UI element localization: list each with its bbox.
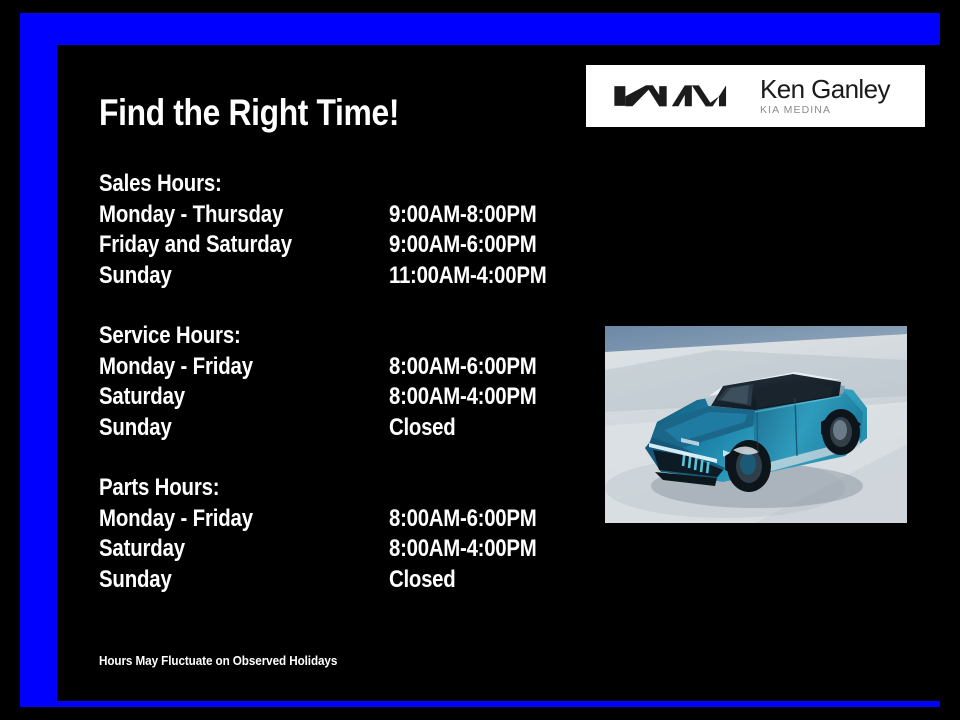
blue-border-frame: Find the Right Time! Sales Hours: Monday… (20, 13, 940, 707)
hours-row-time: 8:00AM-6:00PM (389, 504, 536, 535)
hours-row: Saturday 8:00AM-4:00PM (99, 382, 579, 413)
hours-row-day: Sunday (99, 413, 172, 444)
hours-row: Friday and Saturday 9:00AM-6:00PM (99, 230, 579, 261)
hours-row-time: 8:00AM-4:00PM (389, 382, 536, 413)
footer-disclaimer: Hours May Fluctuate on Observed Holidays (99, 653, 337, 668)
hours-row: Saturday 8:00AM-4:00PM (99, 534, 579, 565)
vehicle-photo (605, 326, 907, 523)
hours-row: Sunday Closed (99, 413, 579, 444)
hours-heading: Service Hours: (99, 321, 507, 352)
hours-block-sales: Sales Hours: Monday - Thursday 9:00AM-8:… (99, 169, 579, 291)
hours-row: Sunday Closed (99, 565, 579, 596)
dealer-name: Ken Ganley (760, 76, 890, 103)
hours-row-day: Monday - Thursday (99, 200, 283, 231)
hours-block-parts: Parts Hours: Monday - Friday 8:00AM-6:00… (99, 473, 579, 595)
hours-row: Monday - Friday 8:00AM-6:00PM (99, 504, 579, 535)
hours-row-time: 8:00AM-4:00PM (389, 534, 536, 565)
hours-row-day: Monday - Friday (99, 504, 253, 535)
hours-row-time: Closed (389, 413, 455, 444)
hours-row-time: 9:00AM-8:00PM (389, 200, 536, 231)
hours-row-day: Sunday (99, 261, 172, 292)
slide-canvas: Find the Right Time! Sales Hours: Monday… (57, 45, 943, 701)
hours-row-day: Saturday (99, 382, 185, 413)
hours-row-day: Saturday (99, 534, 185, 565)
hours-row-time: 8:00AM-6:00PM (389, 352, 536, 383)
hours-heading: Sales Hours: (99, 169, 507, 200)
dealer-location-label: KIA MEDINA (760, 104, 890, 116)
hours-row-day: Monday - Friday (99, 352, 253, 383)
hours-row: Monday - Friday 8:00AM-6:00PM (99, 352, 579, 383)
dealer-logo-text: Ken Ganley KIA MEDINA (760, 76, 890, 117)
hours-row-time: 9:00AM-6:00PM (389, 230, 536, 261)
hours-row-time: Closed (389, 565, 455, 596)
hours-row: Sunday 11:00AM-4:00PM (99, 261, 579, 292)
hours-row-day: Sunday (99, 565, 172, 596)
dealer-logo-card: Ken Ganley KIA MEDINA (586, 65, 925, 127)
hours-row-time: 11:00AM-4:00PM (389, 261, 546, 292)
kia-logo-icon (612, 79, 730, 113)
page-title: Find the Right Time! (99, 92, 399, 134)
hours-row: Monday - Thursday 9:00AM-8:00PM (99, 200, 579, 231)
hours-heading: Parts Hours: (99, 473, 507, 504)
hours-row-day: Friday and Saturday (99, 230, 292, 261)
slide-root: Find the Right Time! Sales Hours: Monday… (0, 0, 960, 720)
hours-block-service: Service Hours: Monday - Friday 8:00AM-6:… (99, 321, 579, 443)
